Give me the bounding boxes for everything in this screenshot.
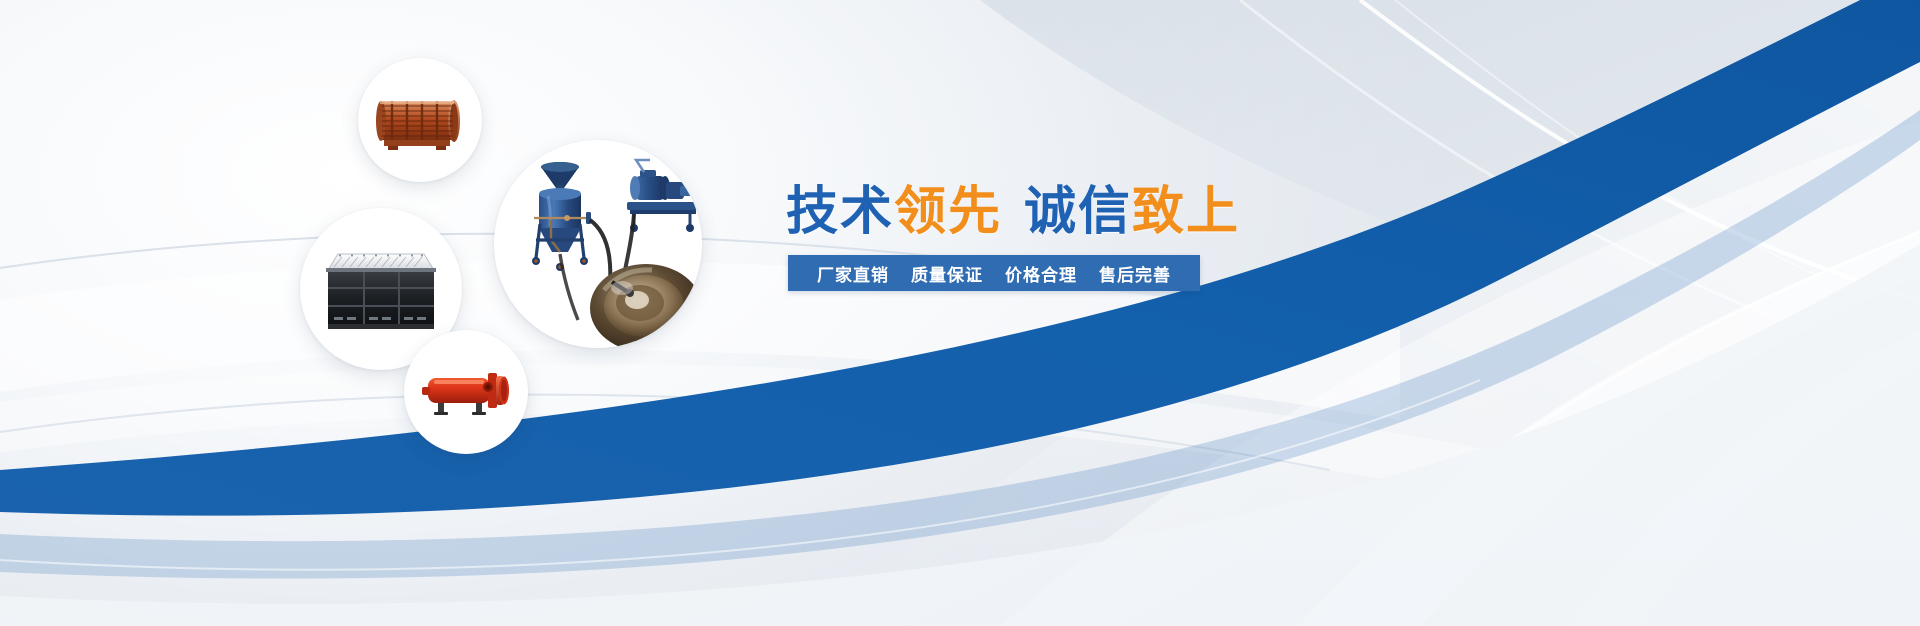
headline-segment-3: 诚信 [1024, 183, 1132, 241]
selling-points-bar: 厂家直销 质量保证 价格合理 售后完善 [788, 255, 1200, 291]
promo-banner: 技术领先诚信致上 厂家直销 质量保证 价格合理 售后完善 [0, 0, 1920, 626]
selling-point-1: 厂家直销 [806, 261, 900, 286]
sandblasting-unit-icon [494, 140, 702, 348]
product-bubble-sandblast-unit [494, 140, 702, 348]
headline-segment-2: 领先 [894, 183, 1002, 241]
selling-point-3: 价格合理 [994, 261, 1088, 286]
selling-point-2: 质量保证 [900, 261, 994, 286]
copper-tube-bundle-icon [358, 58, 482, 182]
headline-segment-1: 技术 [786, 183, 894, 241]
headline: 技术领先诚信致上 [786, 186, 1240, 238]
product-bubble-tube-bundle [358, 58, 482, 182]
product-bubble-shell-cooler [404, 330, 528, 454]
selling-point-4: 售后完善 [1088, 261, 1182, 286]
red-shell-cooler-icon [404, 330, 528, 454]
headline-segment-4: 致上 [1132, 183, 1240, 241]
background-swoosh-graphic [0, 0, 1920, 626]
